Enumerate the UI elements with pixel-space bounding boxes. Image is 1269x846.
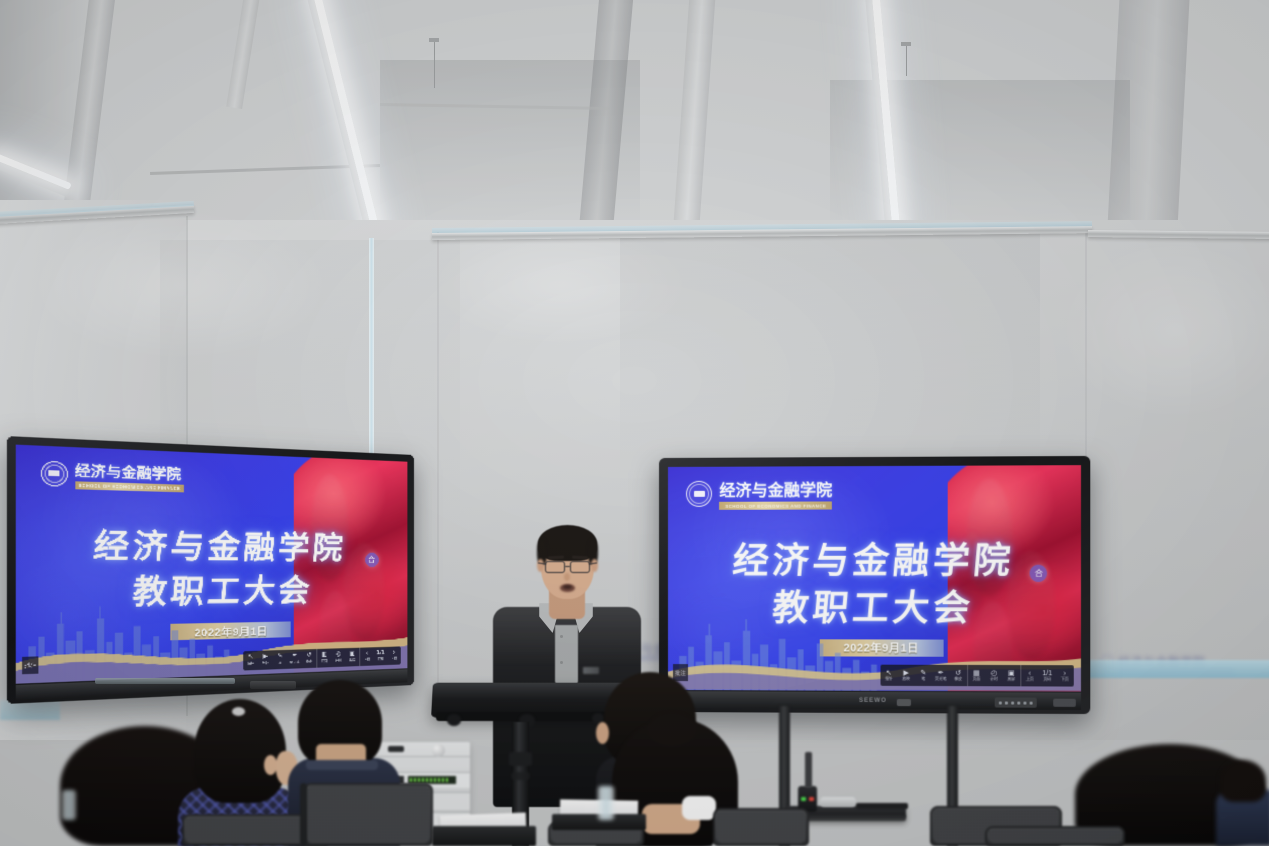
ppt-button-label: 笔 — [278, 660, 281, 665]
ppt-eraser-icon[interactable]: ↺橡皮 — [302, 649, 316, 668]
display-left[interactable]: 经济与金融学院 SCHOOL OF ECONOMICS AND FINANCE … — [7, 436, 414, 704]
ppt-button-label: 黑屏 — [1007, 677, 1015, 682]
ppt-button-label: 上页 — [1026, 677, 1034, 682]
university-crest-icon — [686, 480, 712, 506]
meeting-room-photo: 经济与金融学院 经济与金融学院 — [0, 0, 1269, 846]
chair-2-frame — [300, 783, 307, 846]
ppt-page-number[interactable]: 1/1页码 — [1038, 665, 1055, 686]
water-bottle — [598, 786, 614, 820]
audience-collar — [306, 760, 378, 770]
ppt-button-label: 黑屏 — [349, 657, 355, 662]
ppt-pen-icon[interactable]: ✎笔 — [273, 650, 288, 669]
ppt-button-label: 橡皮 — [306, 659, 313, 664]
university-crest-icon — [40, 460, 67, 486]
tv-control-strip-right[interactable] — [995, 697, 1037, 707]
tv-led-indicator — [1017, 701, 1020, 704]
ppt-pointer-icon[interactable]: ↖指针 — [880, 665, 897, 686]
slide-left: 经济与金融学院 SCHOOL OF ECONOMICS AND FINANCE … — [16, 445, 408, 684]
speaker-placket — [555, 625, 578, 685]
rack-knob[interactable] — [432, 744, 445, 757]
shirt-cuff — [682, 796, 716, 820]
slide-title-line1: 经济与金融学院 — [668, 531, 1081, 584]
pen-icon: ✎ — [920, 669, 926, 676]
lectern-clamp-left — [447, 714, 461, 726]
ppt-button-label: 荧光笔 — [935, 677, 947, 682]
pointer-icon: ↖ — [886, 669, 892, 676]
ppt-button-label: 放映 — [902, 676, 910, 681]
ppt-button-label: 下页 — [1061, 677, 1069, 682]
ppt-clock-icon[interactable]: ◴计时 — [985, 665, 1002, 686]
speaker-ear-left — [537, 559, 544, 572]
ppt-play-icon[interactable]: ▶放映 — [258, 650, 273, 670]
ppt-grid-icon[interactable]: ▦页面 — [968, 665, 985, 686]
speaker-glasses-left-lens — [545, 561, 565, 573]
lectern-height-adjuster — [509, 752, 532, 766]
speaker-nose — [564, 573, 570, 581]
slide-chip-left[interactable]: 批注 — [23, 656, 39, 674]
ppt-toolbar-group-1[interactable]: ↖指针▶放映✎笔✒荧光笔↺橡皮▦页面◴计时▣黑屏‹上页1/1页码›下页 — [880, 665, 1073, 687]
slide-logo-right: 经济与金融学院 SCHOOL OF ECONOMICS AND FINANCE — [686, 476, 832, 510]
slide-badge-left[interactable]: 合 — [365, 552, 379, 566]
ppt-button-label: 页面 — [321, 658, 327, 663]
slide-logo-cn: 经济与金融学院 — [719, 476, 832, 501]
ppt-toolbar-right[interactable]: ↖指针▶放映✎笔✒荧光笔↺橡皮▦页面◴计时▣黑屏‹上页1/1页码›下页 — [880, 665, 1073, 687]
chair-2[interactable] — [303, 783, 433, 846]
grid-icon: ▦ — [973, 670, 980, 677]
lectern-collar — [511, 772, 530, 780]
ppt-button-label: 指针 — [885, 676, 893, 681]
microphone-led-green — [801, 797, 806, 801]
ppt-button-label: 页面 — [973, 677, 981, 682]
ppt-prev-icon[interactable]: ‹上页 — [1021, 665, 1038, 686]
slide-logo-left: 经济与金融学院 SCHOOL OF ECONOMICS AND FINANCE — [40, 458, 183, 493]
tv-led-indicator — [999, 701, 1002, 704]
ppt-screen-icon[interactable]: ▣黑屏 — [345, 648, 359, 667]
screen-icon: ▣ — [1008, 670, 1015, 677]
ppt-highlighter-icon[interactable]: ✒荧光笔 — [932, 665, 949, 686]
highlighter-icon: ✒ — [938, 669, 944, 676]
next-icon: › — [1064, 670, 1066, 677]
ppt-page-number[interactable]: 1/1页码 — [374, 647, 388, 666]
ppt-button-label: 计时 — [990, 677, 998, 682]
chair-5[interactable] — [713, 808, 809, 846]
cable-on-shelf — [856, 803, 908, 809]
slide-logo-cn: 经济与金融学院 — [75, 459, 184, 484]
slide-logo-en: SCHOOL OF ECONOMICS AND FINANCE — [719, 501, 832, 509]
tv-led-indicator — [1030, 701, 1033, 704]
speaker-ear-right — [591, 559, 598, 572]
ppt-pointer-icon[interactable]: ↖指针 — [243, 651, 258, 671]
speaker-glasses-right-lens — [570, 561, 590, 573]
audience-hair — [1220, 760, 1266, 802]
ppt-button-label: 指针 — [247, 661, 254, 667]
tv-power-button-right[interactable] — [1053, 699, 1076, 707]
ppt-grid-icon[interactable]: ▦页面 — [317, 648, 331, 667]
eraser-icon: ↺ — [955, 670, 961, 677]
audience-ear — [596, 722, 609, 744]
audience-member-8 — [642, 796, 716, 846]
chair-4[interactable] — [985, 826, 1125, 846]
hair-tie — [232, 707, 245, 716]
desk-edge-left — [432, 826, 536, 846]
ppt-screen-icon[interactable]: ▣黑屏 — [1003, 665, 1020, 686]
page-number: 1/1 — [1042, 670, 1052, 677]
hair-bun — [648, 712, 696, 746]
tv-brand-right: SEEWO — [859, 697, 887, 703]
ppt-next-icon[interactable]: ›下页 — [387, 646, 400, 665]
tv-screen-left[interactable]: 经济与金融学院 SCHOOL OF ECONOMICS AND FINANCE … — [16, 445, 408, 684]
clock-icon: ◴ — [991, 670, 997, 677]
remote-control[interactable] — [820, 797, 856, 807]
tv-led-indicator — [1005, 701, 1008, 704]
ppt-prev-icon[interactable]: ‹上页 — [360, 647, 374, 666]
ppt-highlighter-icon[interactable]: ✒荧光笔 — [287, 649, 301, 668]
audience-member-7 — [1216, 760, 1269, 846]
ppt-clock-icon[interactable]: ◴计时 — [331, 648, 345, 667]
wall-glass-band-right — [1085, 660, 1269, 678]
display-right[interactable]: 经济与金融学院 SCHOOL OF ECONOMICS AND FINANCE … — [659, 456, 1090, 714]
ppt-play-icon[interactable]: ▶放映 — [897, 665, 914, 686]
ppt-next-icon[interactable]: ›下页 — [1056, 665, 1073, 686]
ppt-button-label: 页码 — [1043, 677, 1051, 682]
ppt-eraser-icon[interactable]: ↺橡皮 — [949, 665, 966, 686]
ceiling — [0, 0, 1269, 232]
play-icon: ▶ — [903, 669, 908, 676]
tv-led-indicator — [1011, 701, 1014, 704]
ppt-button-label: 放映 — [262, 660, 269, 666]
water-bottle-2 — [62, 790, 76, 820]
ppt-button-label: 下页 — [391, 656, 397, 661]
ppt-button-label: 上页 — [364, 657, 370, 662]
tv-shelf-left — [95, 678, 235, 684]
prev-icon: ‹ — [1029, 670, 1031, 677]
ppt-button-label: 笔 — [921, 676, 925, 681]
ppt-pen-icon[interactable]: ✎笔 — [915, 665, 932, 686]
speaker-glasses-bridge — [565, 566, 570, 567]
tv-led-indicator — [1023, 701, 1026, 704]
tv-screen-right[interactable]: 经济与金融学院 SCHOOL OF ECONOMICS AND FINANCE … — [668, 465, 1081, 692]
ppt-button-label: 橡皮 — [954, 677, 962, 682]
tv-sensor-right — [897, 699, 911, 706]
ppt-button-label: 荧光笔 — [290, 659, 300, 665]
microphone-led-red — [809, 797, 814, 801]
ppt-button-label: 页码 — [377, 656, 383, 661]
slide-title-line1: 经济与金融学院 — [16, 516, 408, 567]
ppt-button-label: 计时 — [335, 658, 341, 663]
slide-right: 经济与金融学院 SCHOOL OF ECONOMICS AND FINANCE … — [668, 465, 1081, 692]
microphone-antenna — [805, 752, 812, 788]
